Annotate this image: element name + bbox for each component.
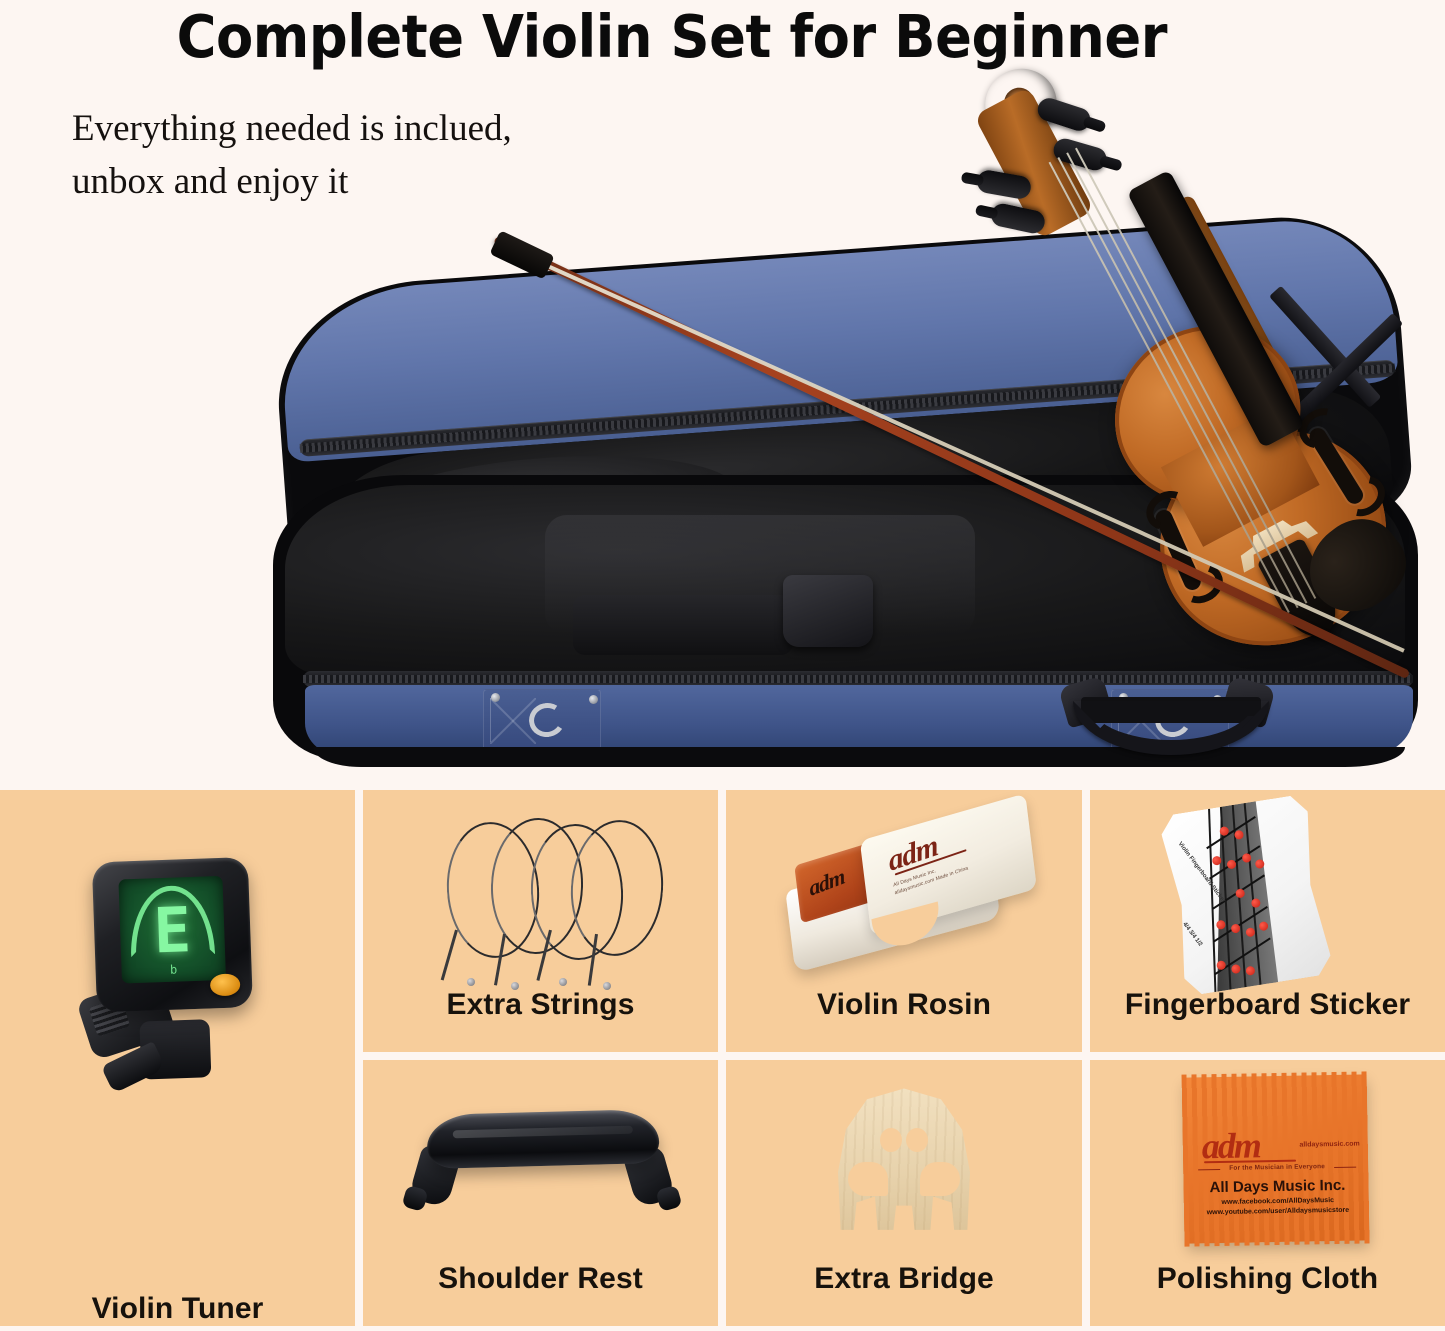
fingerboard-position-sticker-icon: Violin Fingerboard Sticker 4/4 3/4 1/2 [1159, 794, 1334, 997]
tuner-head: E b [92, 857, 253, 1012]
violin-tuner-art: E b [0, 790, 355, 1174]
cloth-brand-logo: adm [1201, 1124, 1260, 1167]
string-ball-end-2 [511, 982, 519, 990]
string-tail-1 [441, 930, 458, 981]
violin-bridge-icon [838, 1084, 970, 1236]
accessory-card-violin-tuner[interactable]: E b Violin Tuner [0, 790, 355, 1326]
bow-frog [489, 230, 554, 279]
extra-bridge-art [726, 1060, 1082, 1262]
accessory-card-polishing-cloth[interactable]: adm alldaysmusic.com For the Musician in… [1090, 1060, 1445, 1326]
accessory-card-violin-rosin[interactable]: adm adm All Days Music Inc. alldaysmusic… [726, 790, 1082, 1052]
bridge-heart-cutout [880, 1128, 928, 1154]
string-ball-end-4 [603, 982, 611, 990]
tuner-note-sub: b [121, 961, 225, 979]
bridge-wood-grain [838, 1084, 970, 1236]
cloth-website: alldaysmusic.com [1299, 1141, 1359, 1149]
bow-hair [520, 252, 1405, 652]
accessory-label-violin-rosin: Violin Rosin [726, 988, 1082, 1052]
tuner-note-value: E [119, 898, 225, 964]
string-ball-end-3 [559, 978, 567, 986]
fingerboard-sticker-art: Violin Fingerboard Sticker 4/4 3/4 1/2 [1090, 790, 1445, 988]
accessory-card-shoulder-rest[interactable]: Shoulder Rest [363, 1060, 718, 1326]
bridge-kidney-cutout-right [920, 1162, 960, 1196]
rosin-cake-box-icon: adm adm All Days Music Inc. alldaysmusic… [768, 799, 1044, 980]
clip-on-tuner-icon: E b [63, 848, 283, 1102]
violin-case-scene [255, 55, 1440, 785]
tuner-power-button[interactable] [210, 973, 241, 996]
accessory-label-shoulder-rest: Shoulder Rest [363, 1262, 718, 1326]
polishing-cloth-icon: adm alldaysmusic.com For the Musician in… [1185, 1074, 1370, 1243]
tuner-display-screen: E b [118, 876, 226, 984]
extra-strings-art [363, 790, 718, 988]
accessory-label-extra-bridge: Extra Bridge [726, 1262, 1082, 1326]
accessory-label-violin-tuner: Violin Tuner [0, 1292, 355, 1326]
accessory-card-extra-strings[interactable]: Extra Strings [363, 790, 718, 1052]
sticker-size-text: 4/4 3/4 1/2 [1181, 921, 1203, 947]
accessory-label-extra-strings: Extra Strings [363, 988, 718, 1052]
shoulder-rest-bar [426, 1109, 659, 1169]
accessory-card-fingerboard-sticker[interactable]: Violin Fingerboard Sticker 4/4 3/4 1/2 F… [1090, 790, 1445, 1052]
accessory-label-polishing-cloth: Polishing Cloth [1090, 1262, 1445, 1326]
accessory-grid: E b Violin Tuner [0, 790, 1445, 1318]
accessory-card-extra-bridge[interactable]: Extra Bridge [726, 1060, 1082, 1326]
violin-bow [495, 235, 1445, 715]
coiled-strings-icon [363, 818, 718, 988]
string-ball-end-1 [467, 978, 475, 986]
cloth-company-name: All Days Music Inc. [1186, 1176, 1368, 1196]
cloth-facebook-url: www.facebook.com/AllDaysMusic [1187, 1196, 1369, 1206]
shoulder-rest-art [363, 1060, 718, 1262]
bridge-kidney-cutout-left [848, 1162, 888, 1196]
shoulder-rest-icon [409, 1108, 675, 1228]
hero-section: Complete Violin Set for Beginner Everyth… [0, 0, 1445, 790]
cloth-youtube-url: www.youtube.com/user/Alldaysmusicstore [1187, 1206, 1369, 1216]
polishing-cloth-art: adm alldaysmusic.com For the Musician in… [1090, 1060, 1445, 1262]
cloth-tagline: For the Musician in Everyone [1198, 1163, 1356, 1173]
case-bottom-trim [313, 747, 1405, 767]
accessory-label-fingerboard-sticker: Fingerboard Sticker [1090, 988, 1445, 1052]
violin-rosin-art: adm adm All Days Music Inc. alldaysmusic… [726, 790, 1082, 988]
